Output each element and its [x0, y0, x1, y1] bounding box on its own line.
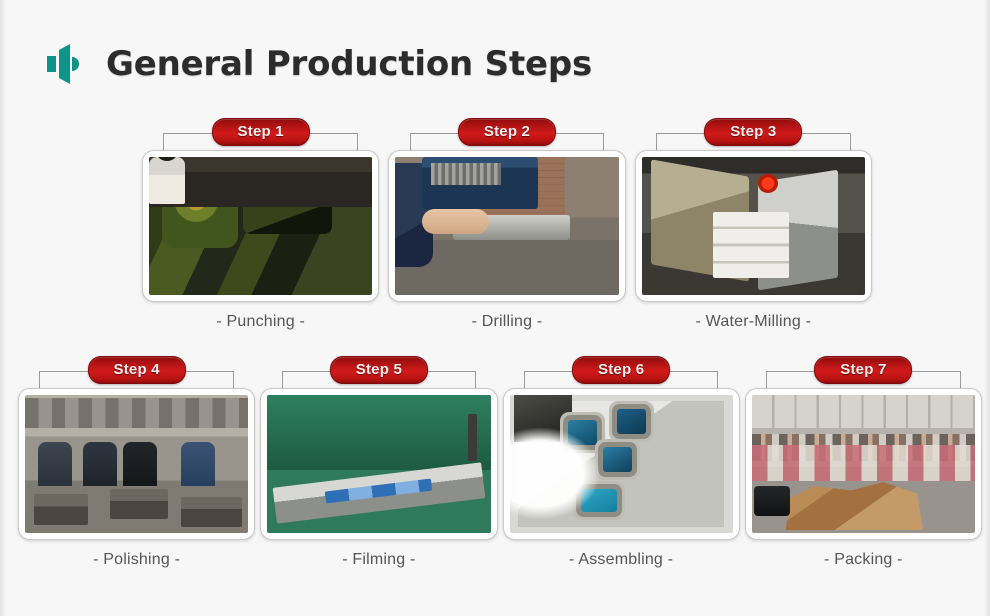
photo-cardboard-boxes — [783, 478, 926, 530]
step-head-6: Step 6 — [503, 356, 740, 388]
photo-blue-stone-3 — [603, 447, 632, 472]
step-badge-3[interactable]: Step 3 — [704, 118, 802, 146]
photo-blue-stone-2 — [617, 409, 646, 434]
step-photo-frame-2[interactable] — [388, 150, 625, 302]
step-caption-7: - Packing - — [745, 551, 982, 569]
step-card-6[interactable]: Step 6 - Assembling - — [503, 356, 740, 569]
step-photo-water-milling — [642, 157, 865, 295]
photo-motion-blur — [510, 428, 599, 519]
photo-stone-stack — [713, 212, 789, 278]
step-badge-7[interactable]: Step 7 — [814, 356, 912, 384]
step-card-7[interactable]: Step 7 - Packing - — [745, 356, 982, 569]
step-photo-filming — [267, 395, 490, 533]
step-photo-frame-3[interactable] — [635, 150, 872, 302]
step-card-4[interactable]: Step 4 - Polishing - — [18, 356, 255, 569]
steps-row-2: Step 4 - Polishing - Step 5 — [18, 356, 982, 569]
step-head-3: Step 3 — [635, 118, 872, 150]
step-caption-2: - Drilling - — [388, 313, 625, 331]
step-badge-2[interactable]: Step 2 — [458, 118, 556, 146]
page-title: General Production Steps — [106, 44, 592, 84]
page-edge-right — [984, 0, 990, 616]
photo-cart — [754, 486, 790, 516]
step-photo-frame-6[interactable] — [503, 388, 740, 540]
step-photo-frame-7[interactable] — [745, 388, 982, 540]
step-photo-frame-4[interactable] — [18, 388, 255, 540]
step-badge-5[interactable]: Step 5 — [330, 356, 428, 384]
step-caption-1: - Punching - — [142, 313, 379, 331]
photo-post — [468, 414, 477, 461]
step-card-1[interactable]: Step 1 - Punching - — [142, 118, 379, 331]
step-caption-5: - Filming - — [260, 551, 497, 569]
photo-bench-1 — [34, 494, 88, 524]
step-head-4: Step 4 — [18, 356, 255, 388]
photo-worker-2 — [83, 442, 116, 486]
photo-worker-3 — [123, 442, 156, 486]
photo-bench-2 — [110, 489, 168, 519]
step-head-2: Step 2 — [388, 118, 625, 150]
step-caption-6: - Assembling - — [503, 551, 740, 569]
step-photo-frame-1[interactable] — [142, 150, 379, 302]
page-edge-left — [0, 0, 6, 616]
step-photo-packing — [752, 395, 975, 533]
photo-blue-crate — [422, 157, 538, 209]
step-photo-assembling — [510, 395, 733, 533]
steps-row-1: Step 1 - Punching - Step 2 — [142, 118, 872, 331]
speaker-icon — [44, 42, 86, 86]
step-head-1: Step 1 — [142, 118, 379, 150]
slide-canvas: General Production Steps Step 1 - Punchi… — [0, 0, 990, 616]
photo-shelf — [25, 398, 248, 428]
step-head-5: Step 5 — [260, 356, 497, 388]
page-header: General Production Steps — [44, 42, 592, 86]
photo-hand — [422, 209, 489, 234]
photo-bench-3 — [181, 497, 241, 527]
step-badge-1[interactable]: Step 1 — [212, 118, 310, 146]
step-caption-4: - Polishing - — [18, 551, 255, 569]
photo-red-marker — [758, 174, 778, 193]
step-photo-polishing — [25, 395, 248, 533]
step-photo-frame-5[interactable] — [260, 388, 497, 540]
photo-tables — [752, 445, 975, 481]
step-head-7: Step 7 — [745, 356, 982, 388]
step-caption-3: - Water-Milling - — [635, 313, 872, 331]
photo-worker — [149, 157, 185, 204]
step-badge-6[interactable]: Step 6 — [572, 356, 670, 384]
step-photo-drilling — [395, 157, 618, 295]
photo-worker-1 — [38, 442, 71, 486]
step-card-5[interactable]: Step 5 - Filming - — [260, 356, 497, 569]
step-badge-4[interactable]: Step 4 — [88, 356, 186, 384]
step-photo-punching — [149, 157, 372, 295]
photo-ceiling — [752, 395, 975, 428]
step-card-3[interactable]: Step 3 - Water-Milling - — [635, 118, 872, 331]
step-card-2[interactable]: Step 2 - Drilling - — [388, 118, 625, 331]
photo-worker-4 — [181, 442, 214, 486]
photo-green-floor — [267, 395, 490, 470]
